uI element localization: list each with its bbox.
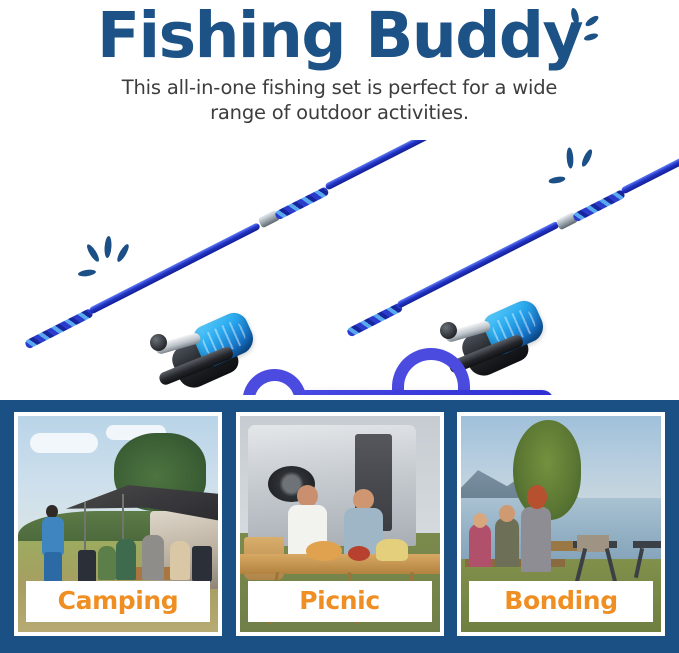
camper-van [248, 425, 416, 546]
panel-label-bonding: Bonding [469, 581, 653, 622]
water-splash-icon [562, 6, 604, 50]
person-fishing [40, 505, 66, 585]
seated-person [142, 535, 164, 580]
food-item [348, 546, 370, 561]
seated-person [521, 507, 551, 572]
activity-panels: Camping [0, 400, 679, 653]
seated-person [170, 541, 190, 580]
page-title: Fishing Buddy [97, 4, 582, 68]
subtitle-line-2: range of outdoor activities. [0, 101, 679, 126]
carry-bag-right: DaddyGoFish [296, 390, 554, 395]
cloud [30, 433, 98, 452]
food-item [306, 541, 342, 560]
seated-person [495, 518, 519, 568]
water-splash-icon [543, 142, 601, 192]
bonding-photo: Bonding [461, 416, 661, 632]
panel-label-text: Camping [58, 586, 179, 615]
head [499, 505, 515, 522]
camp-chair [192, 546, 212, 583]
activity-panel-bonding[interactable]: Bonding [457, 412, 665, 636]
panel-label-camping: Camping [26, 581, 210, 622]
seated-person [116, 539, 136, 580]
camping-photo: Camping [18, 416, 218, 632]
camp-chair [78, 550, 96, 585]
header-section: Fishing Buddy This all-in-one fishing se… [0, 0, 679, 140]
torso [42, 517, 65, 555]
seated-person [98, 546, 116, 581]
picnic-photo: Picnic [240, 416, 440, 632]
head [527, 485, 547, 509]
seated-person [469, 524, 491, 567]
panel-label-text: Picnic [299, 586, 380, 615]
hero-product-image: DaddyGoFish [0, 140, 679, 395]
activity-panel-picnic[interactable]: Picnic [236, 412, 444, 636]
title-wrap: Fishing Buddy [97, 4, 582, 68]
head [353, 489, 374, 510]
bag-handle-left [242, 368, 307, 395]
head [297, 485, 318, 507]
product-infographic: Fishing Buddy This all-in-one fishing se… [0, 0, 679, 653]
tree-canopy [513, 420, 581, 519]
panel-label-picnic: Picnic [248, 581, 432, 622]
food-item [376, 539, 408, 561]
activity-panel-camping[interactable]: Camping [14, 412, 222, 636]
picnic-table [240, 554, 440, 573]
subtitle-line-1: This all-in-one fishing set is perfect f… [0, 76, 679, 101]
page-subtitle: This all-in-one fishing set is perfect f… [0, 76, 679, 126]
water-splash-icon [78, 233, 138, 285]
camp-chair [633, 541, 661, 547]
panel-label-text: Bonding [504, 586, 617, 615]
